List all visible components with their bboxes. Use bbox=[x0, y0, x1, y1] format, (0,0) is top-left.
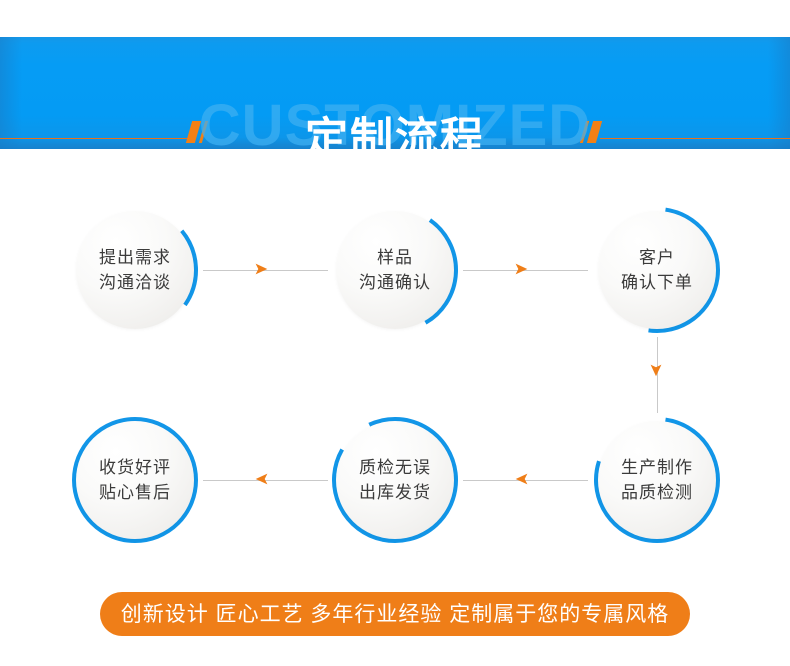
flow-step-6[interactable]: 收货好评贴心售后 bbox=[69, 414, 201, 546]
flow-step-5-label-line1: 质检无误 bbox=[359, 455, 431, 480]
flow-step-1-label: 提出需求沟通洽谈 bbox=[76, 211, 194, 329]
flow-step-1-label-line1: 提出需求 bbox=[99, 245, 171, 270]
flow-step-4-label-line2: 品质检测 bbox=[621, 480, 693, 505]
flow-step-2-label-line2: 沟通确认 bbox=[359, 270, 431, 295]
header-banner: CUSTOMIZED 定制流程 bbox=[0, 37, 790, 149]
flow-step-2-label-line1: 样品 bbox=[377, 245, 413, 270]
flow-step-6-label-line2: 贴心售后 bbox=[99, 480, 171, 505]
arrow-step1-step2 bbox=[252, 260, 270, 278]
flow-step-2[interactable]: 样品沟通确认 bbox=[329, 204, 461, 336]
footer-slogan-text: 创新设计 匠心工艺 多年行业经验 定制属于您的专属风格 bbox=[121, 604, 670, 625]
flow-step-4-label: 生产制作品质检测 bbox=[598, 421, 716, 539]
arrow-step5-step6 bbox=[253, 470, 271, 488]
page-title: 定制流程 bbox=[0, 115, 790, 149]
flow-step-3-label-line1: 客户 bbox=[639, 245, 675, 270]
flow-step-4-label-line1: 生产制作 bbox=[621, 455, 693, 480]
flow-step-3-label: 客户确认下单 bbox=[598, 211, 716, 329]
footer-slogan-banner: 创新设计 匠心工艺 多年行业经验 定制属于您的专属风格 bbox=[100, 592, 690, 636]
flow-step-1[interactable]: 提出需求沟通洽谈 bbox=[69, 204, 201, 336]
flow-step-6-label: 收货好评贴心售后 bbox=[76, 421, 194, 539]
flow-step-1-label-line2: 沟通洽谈 bbox=[99, 270, 171, 295]
flow-step-6-label-line1: 收货好评 bbox=[99, 455, 171, 480]
flow-step-3[interactable]: 客户确认下单 bbox=[591, 204, 723, 336]
process-flow-diagram: 提出需求沟通洽谈样品沟通确认客户确认下单生产制作品质检测质检无误出库发货收货好评… bbox=[0, 149, 790, 579]
flow-step-5-label: 质检无误出库发货 bbox=[336, 421, 454, 539]
flow-step-4[interactable]: 生产制作品质检测 bbox=[591, 414, 723, 546]
arrow-step2-step3 bbox=[512, 260, 530, 278]
flow-step-3-label-line2: 确认下单 bbox=[621, 270, 693, 295]
flow-step-5[interactable]: 质检无误出库发货 bbox=[329, 414, 461, 546]
arrow-step3-step4 bbox=[647, 361, 665, 379]
flow-step-5-label-line2: 出库发货 bbox=[359, 480, 431, 505]
arrow-step4-step5 bbox=[513, 470, 531, 488]
flow-step-2-label: 样品沟通确认 bbox=[336, 211, 454, 329]
